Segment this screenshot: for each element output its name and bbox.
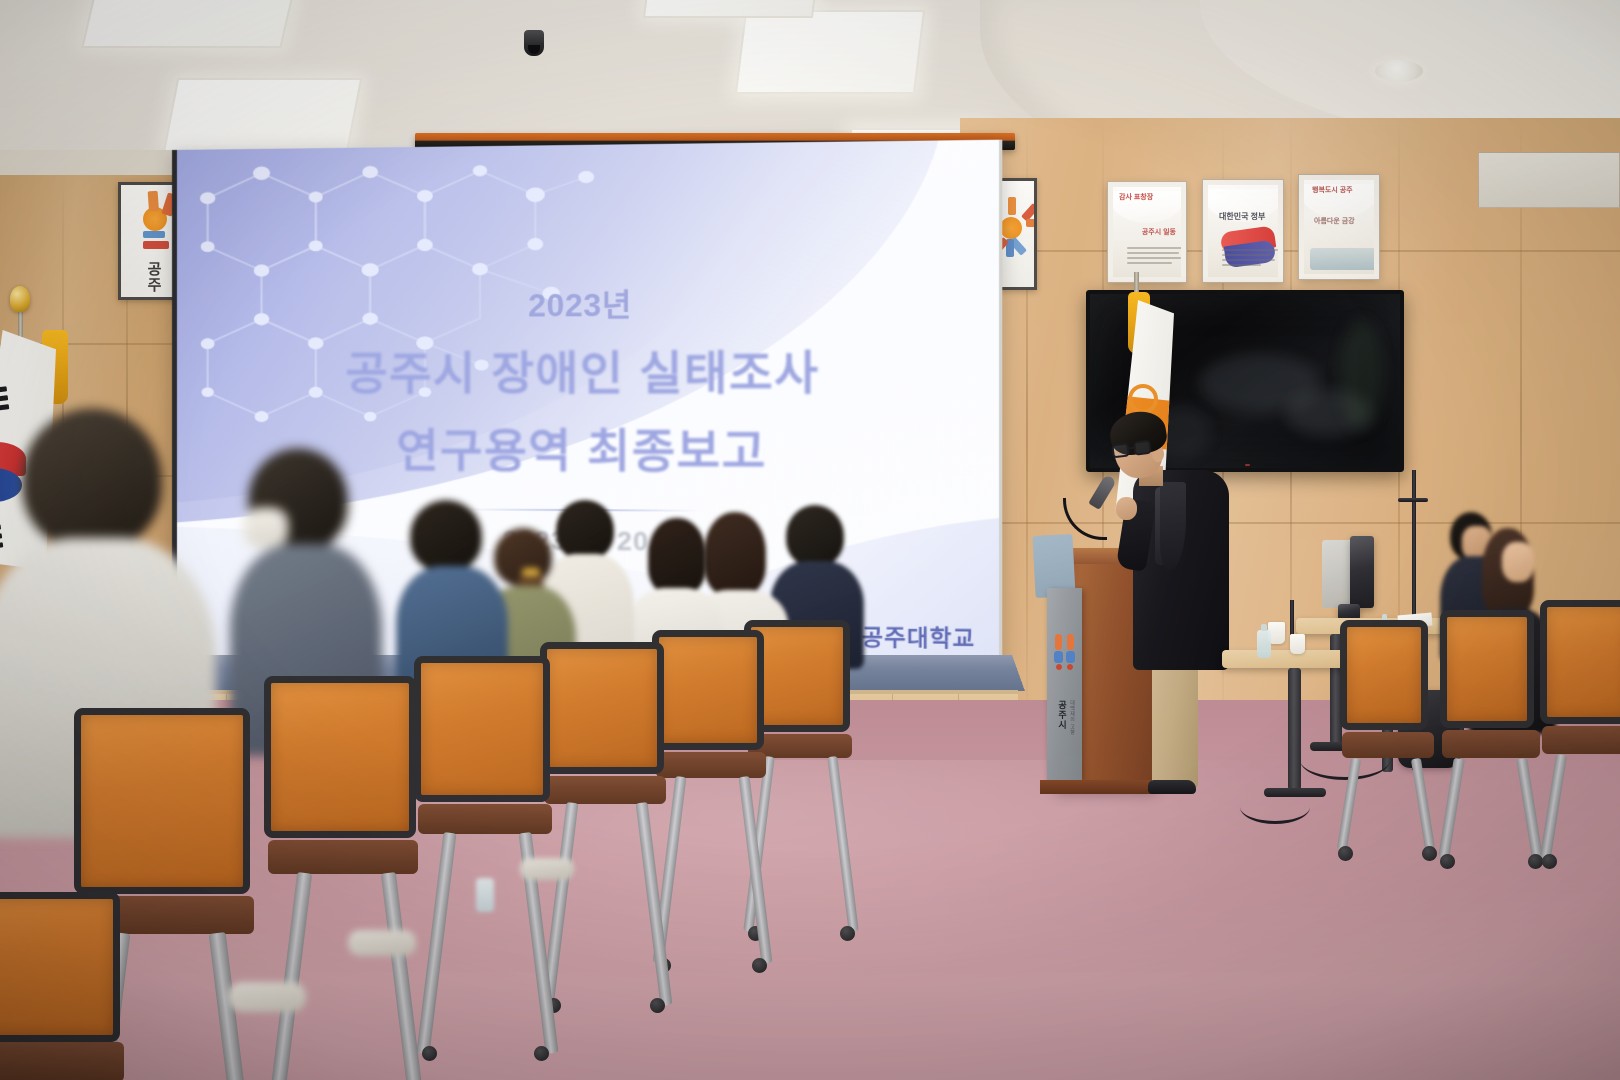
slide-title-line-1: 공주시 장애인 실태조사 — [177, 335, 999, 403]
conference-room-photo: 공주 공주 감사 표창장 공주시 일동 대한민국 정부 행복도시 공주 아름다 — [0, 0, 1620, 1080]
floor-item-shoes — [520, 858, 574, 880]
gongju-emblem-left-label: 공주 — [143, 261, 164, 293]
ceiling-downlight — [1375, 60, 1423, 82]
mic-stand-arm — [1398, 498, 1428, 502]
certificate-left: 감사 표창장 공주시 일동 — [1108, 182, 1186, 282]
emblem-ray — [148, 191, 159, 212]
podium-sign-subtext: 대백제의 고향 — [1069, 700, 1076, 735]
ceiling-light-panel — [735, 10, 925, 94]
tv-reflection — [1340, 320, 1382, 430]
floor-item-shoes — [348, 930, 416, 956]
slide-year: 2023년 — [177, 277, 999, 327]
cable-on-floor — [1240, 790, 1310, 824]
tv-power-led — [1245, 464, 1250, 466]
certificate-left-body — [1127, 247, 1183, 267]
certificate-right: 행복도시 공주 아름다운 금강 — [1299, 175, 1379, 279]
emblem-ray — [143, 241, 169, 249]
certificate-center-body — [1222, 249, 1278, 269]
wall-transom-panel — [1478, 152, 1620, 208]
certificate-left-heading: 감사 표창장 — [1119, 192, 1153, 202]
ceiling-light-panel — [643, 0, 817, 18]
emblem-ray — [1026, 219, 1037, 227]
desktop-monitor[interactable] — [1350, 536, 1374, 608]
emblem-ray — [1008, 197, 1016, 215]
person-hair — [22, 408, 162, 550]
certificate-left-subheading: 공주시 일동 — [1142, 227, 1176, 237]
certificate-right-landscape-graphic — [1310, 248, 1378, 270]
floor-item-shoes — [228, 982, 306, 1012]
certificate-center-heading: 대한민국 정부 — [1219, 211, 1265, 222]
gongju-city-figure-mark-icon — [1054, 634, 1075, 670]
slide-footer-logo-text: 공주대학교 — [862, 619, 976, 653]
paper-cup — [1290, 634, 1305, 654]
dome-security-camera-icon — [524, 30, 544, 56]
podium-sign-text: 공주시 — [1056, 700, 1069, 730]
person-face — [1502, 542, 1534, 582]
person-hair — [648, 518, 706, 594]
certificate-center: 대한민국 정부 — [1203, 180, 1283, 282]
person-hair — [410, 500, 482, 572]
emblem-ray — [143, 231, 165, 238]
person-hair — [786, 505, 844, 567]
flagpole-finial-left — [10, 286, 30, 312]
person-hair-tie — [522, 568, 540, 576]
certificate-right-heading: 행복도시 공주 — [1312, 185, 1353, 195]
podium-city-sign: 공주시 대백제의 고향 — [1047, 588, 1082, 780]
flag-emblem-circle — [1128, 384, 1158, 414]
table-leg — [1288, 668, 1301, 790]
water-bottle — [1257, 630, 1271, 658]
presenter-hand — [1116, 497, 1137, 520]
presenter-shoe — [1148, 780, 1196, 794]
certificate-right-subheading: 아름다운 금강 — [1314, 216, 1355, 226]
ceiling-light-panel — [163, 78, 363, 153]
floor-water-bottle — [476, 878, 494, 912]
person-face-mask — [244, 508, 288, 548]
ceiling-light-panel — [81, 0, 294, 48]
